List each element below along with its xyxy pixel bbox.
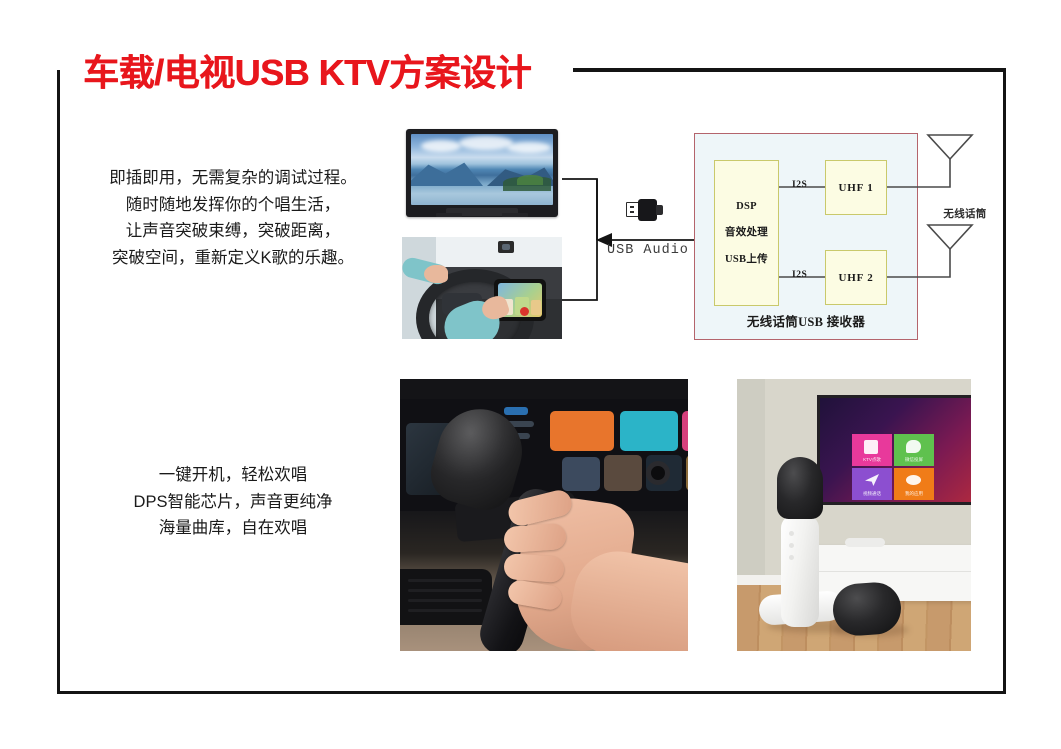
microphones-living-room-photo: KTV点歌 微信投屏 视频通话 我的应用 [737, 379, 971, 651]
eye-icon [906, 475, 921, 485]
finger [503, 523, 567, 553]
display-tile [686, 455, 688, 491]
tv-tile-label: KTV点歌 [852, 457, 892, 463]
system-block-diagram: DSP 音效处理 USB上传 UHF 1 UHF 2 I2S I2S 无线话筒U… [694, 133, 1006, 351]
vent-slat [408, 579, 482, 582]
cabinet-object [845, 538, 885, 547]
vinyl-record-icon [646, 461, 670, 485]
display-tile [682, 411, 688, 451]
microphone-standing-body [781, 515, 819, 627]
dsp-line-2: 音效处理 [725, 224, 768, 239]
wireless-mic-label: 无线话筒 [924, 206, 1006, 221]
wall-corner [737, 379, 765, 585]
usb-tail [656, 205, 663, 215]
uhf1-block: UHF 1 [825, 160, 887, 215]
display-chip [504, 407, 528, 415]
i2s-label-2: I2S [792, 270, 807, 280]
mic-button [789, 531, 794, 536]
dsp-line-1: DSP [736, 201, 757, 212]
air-vent [400, 569, 492, 625]
dsp-block: DSP 音效处理 USB上传 [714, 160, 779, 306]
tv-tile-label: 微信投屏 [894, 457, 934, 463]
music-icon [864, 440, 878, 454]
dsp-line-3: USB上传 [725, 251, 768, 266]
mic-button [789, 555, 794, 560]
display-tile [562, 457, 600, 491]
display-tile [604, 455, 642, 491]
display-tile [620, 411, 678, 451]
cabinet-seam [817, 571, 971, 572]
vent-slat [408, 589, 482, 592]
display-tile [550, 411, 614, 451]
uhf2-block: UHF 2 [825, 250, 887, 305]
wechat-icon [906, 440, 921, 453]
usb-audio-label: USB Audio [607, 243, 689, 258]
finger [503, 553, 565, 583]
mic-button [789, 543, 794, 548]
wall-mounted-tv: KTV点歌 微信投屏 视频通话 我的应用 [817, 395, 971, 505]
receiver-caption: 无线话筒USB 接收器 [694, 311, 918, 330]
microphone-in-car-photo [400, 379, 688, 651]
usb-connector-icon [626, 199, 662, 221]
microphone-standing-foam-head [777, 457, 823, 519]
tv-tile-label: 视频通话 [852, 491, 892, 497]
tv-tile-label: 我的应用 [894, 491, 934, 497]
car-headliner [400, 379, 688, 401]
i2s-label-1: I2S [792, 180, 807, 190]
tv-tile-video: 视频通话 [852, 468, 892, 500]
usb-housing [638, 199, 657, 221]
vent-slat [408, 599, 482, 602]
vent-slat [408, 609, 482, 612]
